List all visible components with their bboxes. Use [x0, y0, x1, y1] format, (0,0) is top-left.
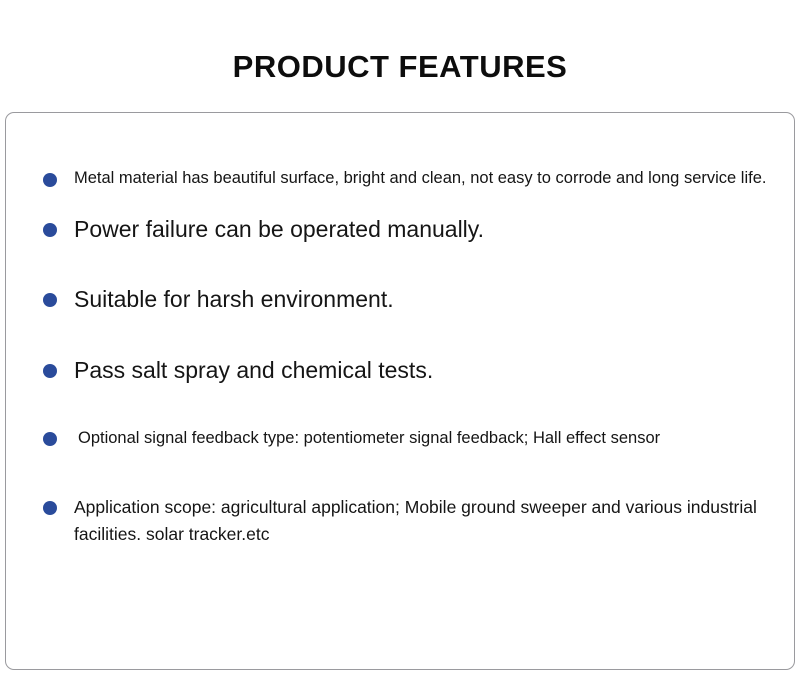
list-item: Optional signal feedback type: potentiom…: [6, 426, 794, 451]
feature-list: Metal material has beautiful surface, br…: [6, 166, 794, 548]
features-panel: Metal material has beautiful surface, br…: [5, 112, 795, 670]
feature-text: Power failure can be operated manually.: [74, 213, 780, 245]
feature-text: Optional signal feedback type: potentiom…: [78, 426, 780, 451]
bullet-dot-icon: [43, 364, 57, 378]
page-title: PRODUCT FEATURES: [0, 0, 800, 86]
bullet-dot-icon: [43, 223, 57, 237]
bullet-dot-icon: [43, 293, 57, 307]
feature-text: Suitable for harsh environment.: [74, 283, 780, 315]
list-item: Power failure can be operated manually.: [6, 213, 794, 245]
bullet-dot-icon: [43, 173, 57, 187]
list-item: Application scope: agricultural applicat…: [6, 494, 794, 548]
list-item: Metal material has beautiful surface, br…: [6, 166, 794, 191]
bullet-dot-icon: [43, 501, 57, 515]
feature-text: Metal material has beautiful surface, br…: [74, 166, 780, 191]
feature-text: Application scope: agricultural applicat…: [74, 494, 780, 548]
bullet-dot-icon: [43, 432, 57, 446]
product-features-page: PRODUCT FEATURES Metal material has beau…: [0, 0, 800, 688]
list-item: Suitable for harsh environment.: [6, 283, 794, 315]
feature-text: Pass salt spray and chemical tests.: [74, 354, 780, 386]
list-item: Pass salt spray and chemical tests.: [6, 354, 794, 386]
